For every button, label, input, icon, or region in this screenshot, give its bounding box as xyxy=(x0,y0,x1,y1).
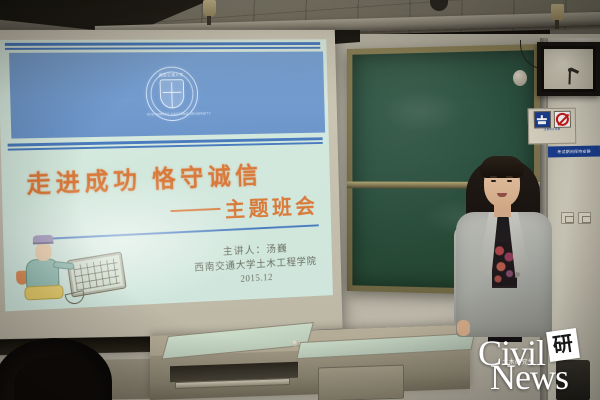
scholar-cartoon-icon xyxy=(13,229,127,307)
presenter-eyebrow xyxy=(490,176,497,178)
clock-center-pin xyxy=(568,68,572,72)
safety-sign-plate: 注意防止滑倒 xyxy=(528,108,577,145)
wall-clock xyxy=(537,42,600,96)
wall-socket[interactable] xyxy=(578,212,591,224)
presenter-eyebrow xyxy=(506,176,513,178)
clock-face xyxy=(544,49,593,89)
mandatory-sign-icon xyxy=(533,111,550,128)
projection-screen: 西南交通大学 SOUTHWEST JIAOTONG UNIVERSITY 走进成… xyxy=(0,30,343,348)
classroom-photo: 注意防止滑倒 考试期间保持安静 西南交通大学 SOUTHWEST JIAOTON… xyxy=(0,0,600,400)
sprinkler-icon xyxy=(551,4,564,21)
presenter-coat-button xyxy=(515,272,520,277)
chalk-smudge xyxy=(384,90,463,133)
swjtu-emblem-icon: 西南交通大学 SOUTHWEST JIAOTONG UNIVERSITY xyxy=(145,67,199,122)
console-lock-icon[interactable] xyxy=(292,340,299,347)
presenter-hand xyxy=(457,320,470,336)
slide-subtitle-row: 主题班会 xyxy=(170,189,319,226)
slide-credits: 主讲人：汤巍 西南交通大学土木工程学院 2015.12 xyxy=(193,241,317,290)
slide-subtitle-dash xyxy=(170,208,220,213)
presenter-hair-front xyxy=(480,156,524,178)
wall-socket[interactable] xyxy=(561,212,574,224)
presenter-eye xyxy=(491,180,496,182)
wall-knob xyxy=(513,70,527,86)
emblem-arc-top-text: 西南交通大学 xyxy=(146,72,196,78)
female-presenter xyxy=(452,150,560,350)
sprinkler-icon xyxy=(203,0,216,17)
slide-rule-top-1 xyxy=(5,42,320,45)
emblem-arc-bottom-text: SOUTHWEST JIAOTONG UNIVERSITY xyxy=(147,112,197,117)
slide-title-sub: 主题班会 xyxy=(224,189,318,224)
waste-bin xyxy=(556,360,590,400)
sign-caption-blue: 注意防止滑倒 xyxy=(544,129,561,132)
emblem-shield xyxy=(159,79,184,108)
prohibition-sign-icon xyxy=(553,111,570,128)
console-door-panel[interactable] xyxy=(318,364,404,400)
slide-banner: 西南交通大学 SOUTHWEST JIAOTONG UNIVERSITY xyxy=(9,52,326,139)
slide-rule-top-2 xyxy=(5,47,320,50)
presentation-slide: 西南交通大学 SOUTHWEST JIAOTONG UNIVERSITY 走进成… xyxy=(0,39,333,311)
presenter-eye xyxy=(507,180,512,182)
